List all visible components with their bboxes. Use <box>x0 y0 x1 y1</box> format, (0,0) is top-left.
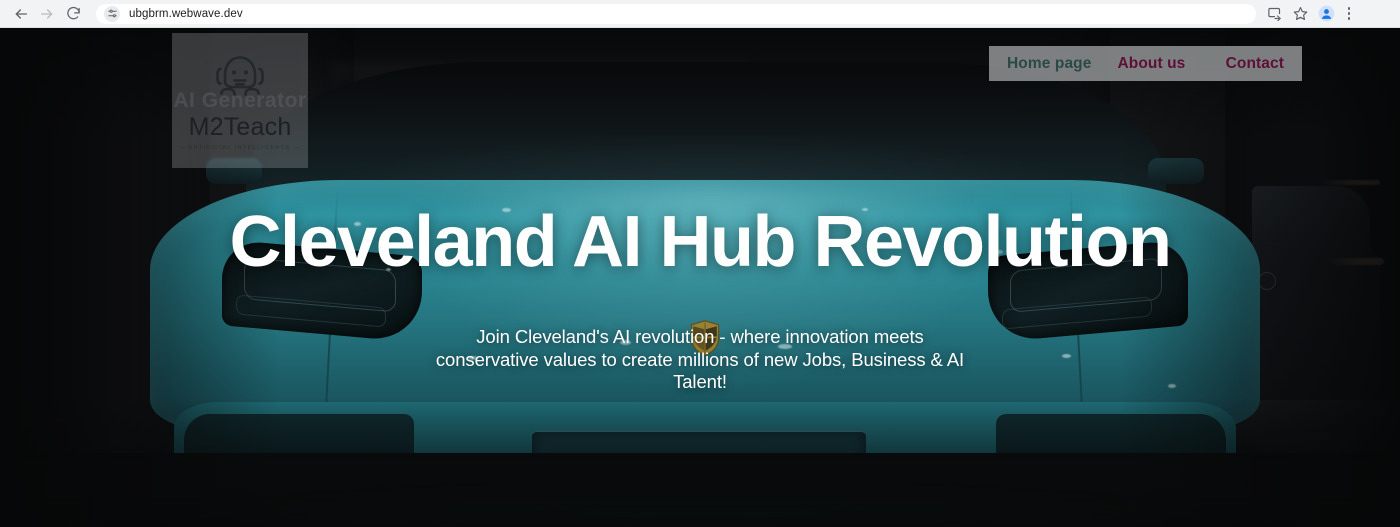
install-app-icon <box>1267 6 1282 21</box>
webpage-viewport: Taycan 4S AI Generator <box>0 28 1400 527</box>
site-navigation: Home page About us Contact <box>989 46 1302 81</box>
star-icon <box>1293 6 1308 21</box>
nav-item-contact[interactable]: Contact <box>1226 55 1284 73</box>
site-logo[interactable]: AI Generator M2Teach — ARTIFICIAL INTELL… <box>172 33 308 168</box>
install-app-button[interactable] <box>1262 2 1286 26</box>
tune-sliders-icon[interactable] <box>104 6 120 22</box>
robot-head-icon <box>208 50 272 113</box>
hero-subheadline: Join Cleveland's AI revolution - where i… <box>435 326 965 394</box>
arrow-right-icon <box>39 6 55 22</box>
logo-tagline: — ARTIFICIAL INTELLIGENCE — <box>179 145 301 151</box>
chrome-menu-button[interactable] <box>1340 4 1358 24</box>
kebab-menu-icon <box>1348 7 1351 10</box>
bookmark-button[interactable] <box>1288 2 1312 26</box>
browser-toolbar: ubgbrm.webwave.dev <box>0 0 1400 28</box>
logo-wordmark: M2Teach <box>189 115 292 140</box>
profile-button[interactable] <box>1314 2 1338 26</box>
profile-avatar-icon <box>1318 5 1335 22</box>
back-button[interactable] <box>8 1 34 27</box>
url-text[interactable]: ubgbrm.webwave.dev <box>129 8 243 20</box>
forward-button[interactable] <box>34 1 60 27</box>
hero-headline: Cleveland AI Hub Revolution <box>0 206 1400 278</box>
nav-item-home-page[interactable]: Home page <box>1007 55 1091 73</box>
arrow-left-icon <box>13 6 29 22</box>
car-mirror-right <box>1148 158 1204 184</box>
address-bar[interactable]: ubgbrm.webwave.dev <box>96 4 1256 24</box>
reload-button[interactable] <box>60 1 86 27</box>
nav-item-about-us[interactable]: About us <box>1117 55 1185 73</box>
reload-icon <box>66 6 81 21</box>
toolbar-actions <box>1262 2 1358 26</box>
